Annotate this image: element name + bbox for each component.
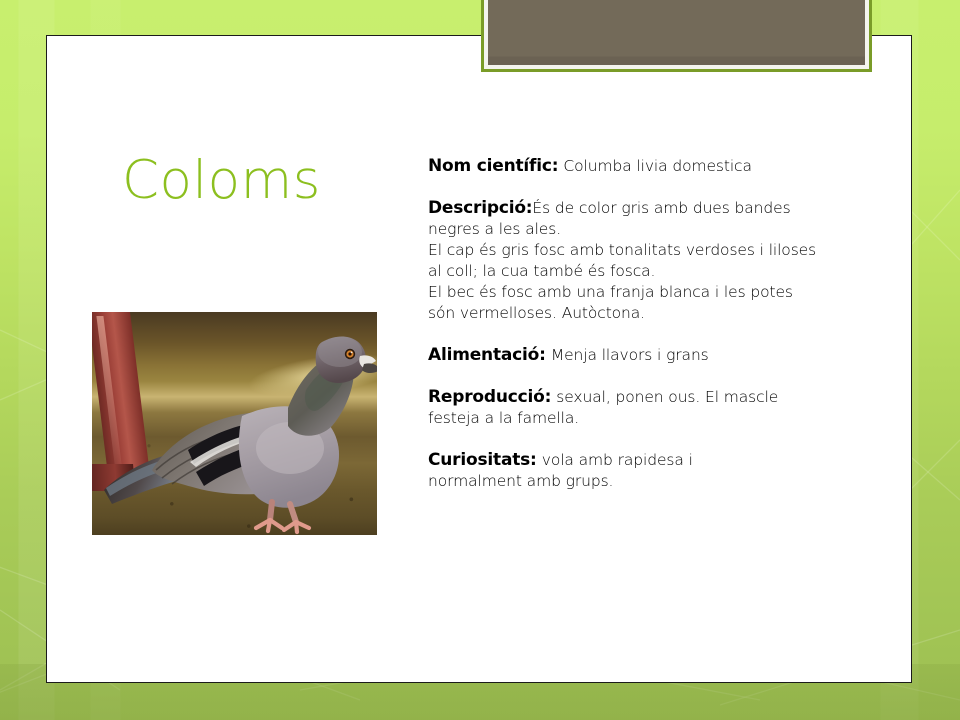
field-line: El bec és fosc amb una franja blanca i l…: [428, 282, 880, 303]
field-label: Nom científic:: [428, 156, 558, 176]
field-value: Menja llavors i grans: [551, 346, 709, 364]
field-line: normalment amb grups.: [428, 471, 880, 492]
field-label: Descripció:: [428, 198, 532, 218]
field-value: És de color gris amb dues bandes: [532, 199, 790, 217]
page-title: Coloms: [122, 152, 412, 210]
field-block: Descripció:És de color gris amb dues ban…: [428, 197, 880, 324]
field-line: són vermelloses. Autòctona.: [428, 303, 880, 324]
field-block: Reproducció: sexual, ponen ous. El mascl…: [428, 386, 880, 429]
field-value: vola amb rapidesa i: [542, 451, 693, 469]
pigeon-illustration: [92, 312, 377, 535]
field-line: El cap és gris fosc amb tonalitats verdo…: [428, 240, 880, 261]
field-label: Alimentació:: [428, 345, 546, 365]
picture-placeholder-fill: [488, 0, 865, 65]
field-line: negres a les ales.: [428, 219, 880, 240]
field-block: Nom científic: Columba livia domestica: [428, 155, 880, 177]
description-text-column: Nom científic: Columba livia domestica D…: [428, 155, 880, 492]
slide: Coloms: [0, 0, 960, 720]
pigeon-photo: [92, 312, 377, 535]
field-value: Columba livia domestica: [563, 157, 751, 175]
field-label: Reproducció:: [428, 387, 551, 407]
field-line: festeja a la famella.: [428, 408, 880, 429]
field-label: Curiositats:: [428, 450, 537, 470]
field-line: al coll; la cua també és fosca.: [428, 261, 880, 282]
picture-placeholder-box: [481, 0, 872, 72]
field-block: Alimentació: Menja llavors i grans: [428, 344, 880, 366]
field-value: sexual, ponen ous. El mascle: [556, 388, 778, 406]
field-block: Curiositats: vola amb rapidesa i normalm…: [428, 449, 880, 492]
